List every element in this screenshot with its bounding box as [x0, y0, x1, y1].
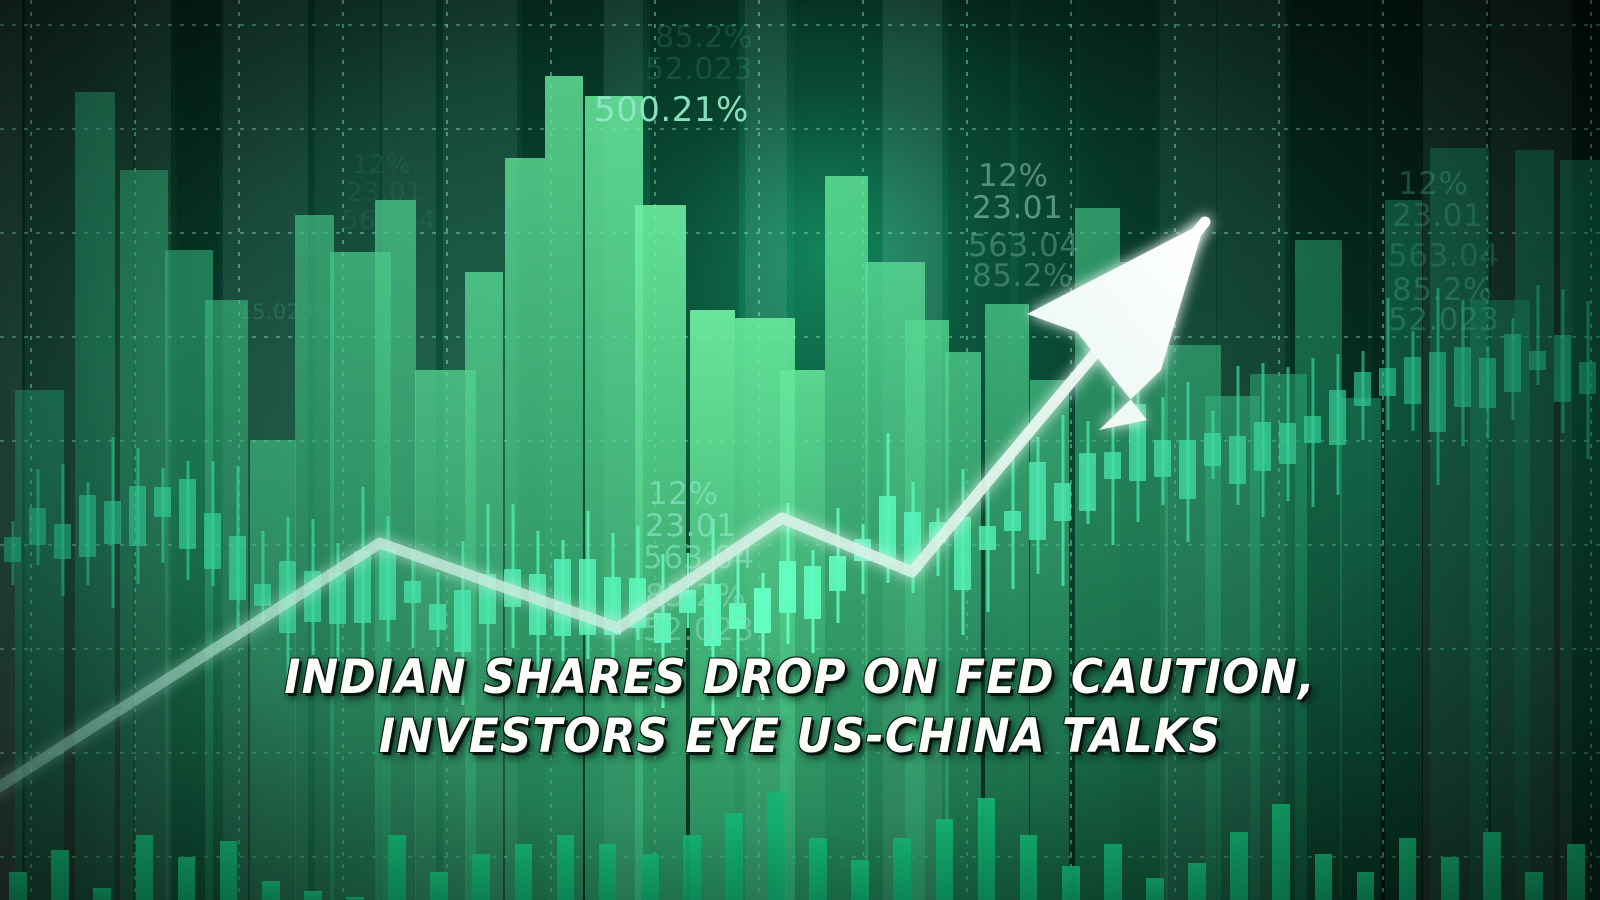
headline-line-2: Investors eye US-China talks — [56, 707, 1544, 766]
thumbnail-canvas: 500.21%85.2%52.02315.023%12%23.01563.041… — [0, 0, 1600, 900]
headline-line-1: Indian shares drop on Fed caution, — [56, 648, 1544, 707]
headline: Indian shares drop on Fed caution, Inves… — [56, 648, 1544, 766]
